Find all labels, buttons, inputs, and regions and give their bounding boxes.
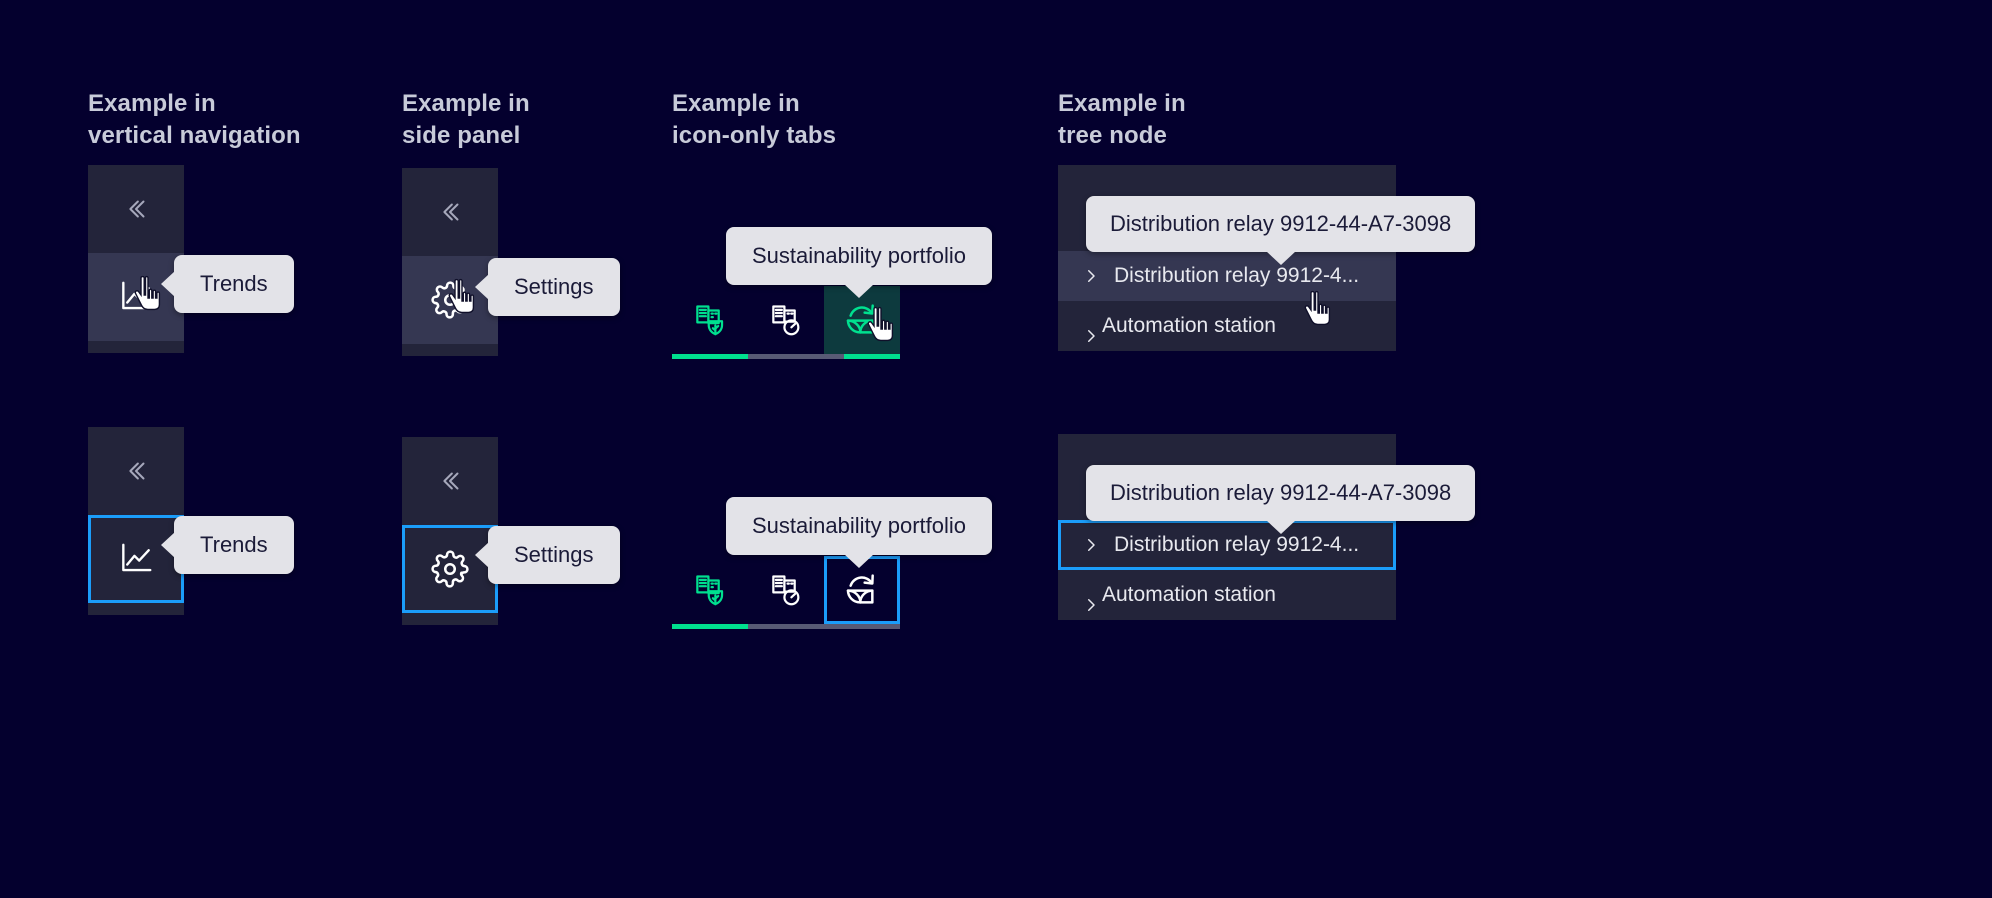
tree-row-distribution-relay[interactable]: Distribution relay 9912-4... [1058, 251, 1396, 301]
building-gauge-icon [767, 301, 805, 339]
side-panel-collapse-button-focus[interactable] [402, 437, 498, 525]
vertical-nav-item-trends-focus[interactable] [88, 515, 184, 603]
vertical-nav-item-trends[interactable] [88, 253, 184, 341]
tab-underline-segment-active-2 [844, 624, 900, 629]
tab-underline-segment-active-2 [844, 354, 900, 359]
tab-underline-bar-focus [672, 624, 900, 629]
side-panel-item-document-focus[interactable] [402, 613, 498, 625]
vertical-nav-collapse-button[interactable] [88, 165, 184, 253]
tooltip-settings-hover: Settings [488, 258, 620, 316]
vertical-nav-collapse-button-focus[interactable] [88, 427, 184, 515]
tooltip-sustainability-portfolio-focus: Sustainability portfolio [726, 497, 992, 555]
canvas: Example in vertical navigation Example i… [0, 0, 1992, 898]
tree-row-distribution-relay-focus[interactable]: Distribution relay 9912-4... [1058, 520, 1396, 570]
chevron-right-icon [1080, 327, 1102, 345]
tooltip-trends-hover: Trends [174, 255, 294, 313]
column-heading-tree-node: Example in tree node [1058, 88, 1186, 152]
sustainability-portfolio-icon [842, 300, 882, 340]
sustainability-portfolio-icon [842, 570, 882, 610]
trends-chart-icon [117, 278, 155, 316]
column-heading-icon-only-tabs: Example in icon-only tabs [672, 88, 836, 152]
tab-building-gauge-focus[interactable] [748, 556, 824, 624]
side-panel-collapse-button[interactable] [402, 168, 498, 256]
vertical-nav-rail-hover [88, 165, 184, 353]
tooltip-distribution-relay-hover: Distribution relay 9912-44-A7-3098 [1086, 196, 1475, 252]
chevron-right-icon [1080, 596, 1102, 614]
tree-row-automation-station[interactable]: Automation station [1058, 301, 1396, 351]
side-panel-rail-hover [402, 168, 498, 356]
sustainability-report-icon [691, 301, 729, 339]
building-gauge-icon [767, 571, 805, 609]
tab-underline-segment-inactive [748, 624, 844, 629]
side-panel-item-settings-focus[interactable] [402, 525, 498, 613]
column-heading-side-panel: Example in side panel [402, 88, 530, 152]
tooltip-settings-focus: Settings [488, 526, 620, 584]
tab-underline-segment-active-1 [672, 354, 748, 359]
tab-underline-bar [672, 354, 900, 359]
chevron-double-left-icon [435, 197, 465, 227]
tree-row-label: Automation station [1102, 314, 1276, 338]
chevron-right-icon [1080, 267, 1102, 285]
gear-icon [431, 550, 469, 588]
tree-panel-hover: Discovered devices Distribution relay 99… [1058, 165, 1396, 351]
tab-sustainability-report-focus[interactable] [672, 556, 748, 624]
tree-row-label: Distribution relay 9912-4... [1114, 264, 1359, 288]
tooltip-distribution-relay-focus: Distribution relay 9912-44-A7-3098 [1086, 465, 1475, 521]
tab-sustainability-report[interactable] [672, 286, 748, 354]
chevron-right-icon [1080, 536, 1102, 554]
vertical-nav-item-dashboard[interactable] [88, 341, 184, 353]
tree-row-label: Automation station [1102, 583, 1276, 607]
tab-underline-segment-active-1 [672, 624, 748, 629]
tooltip-sustainability-portfolio-hover: Sustainability portfolio [726, 227, 992, 285]
tree-row-automation-station-focus[interactable]: Automation station [1058, 570, 1396, 620]
chevron-double-left-icon [435, 466, 465, 496]
gear-icon [431, 281, 469, 319]
chevron-double-left-icon [121, 456, 151, 486]
side-panel-item-document[interactable] [402, 344, 498, 356]
side-panel-item-settings[interactable] [402, 256, 498, 344]
sustainability-report-icon [691, 571, 729, 609]
vertical-nav-item-dashboard-focus[interactable] [88, 603, 184, 615]
vertical-nav-rail-focus [88, 427, 184, 615]
tab-building-gauge[interactable] [748, 286, 824, 354]
tree-row-label: Distribution relay 9912-4... [1114, 533, 1359, 557]
tab-underline-segment-inactive [748, 354, 844, 359]
column-heading-vertical-navigation: Example in vertical navigation [88, 88, 301, 152]
tooltip-trends-focus: Trends [174, 516, 294, 574]
tree-panel-focus: Discovered devices Distribution relay 99… [1058, 434, 1396, 620]
trends-chart-icon [117, 540, 155, 578]
side-panel-rail-focus [402, 437, 498, 625]
chevron-double-left-icon [121, 194, 151, 224]
